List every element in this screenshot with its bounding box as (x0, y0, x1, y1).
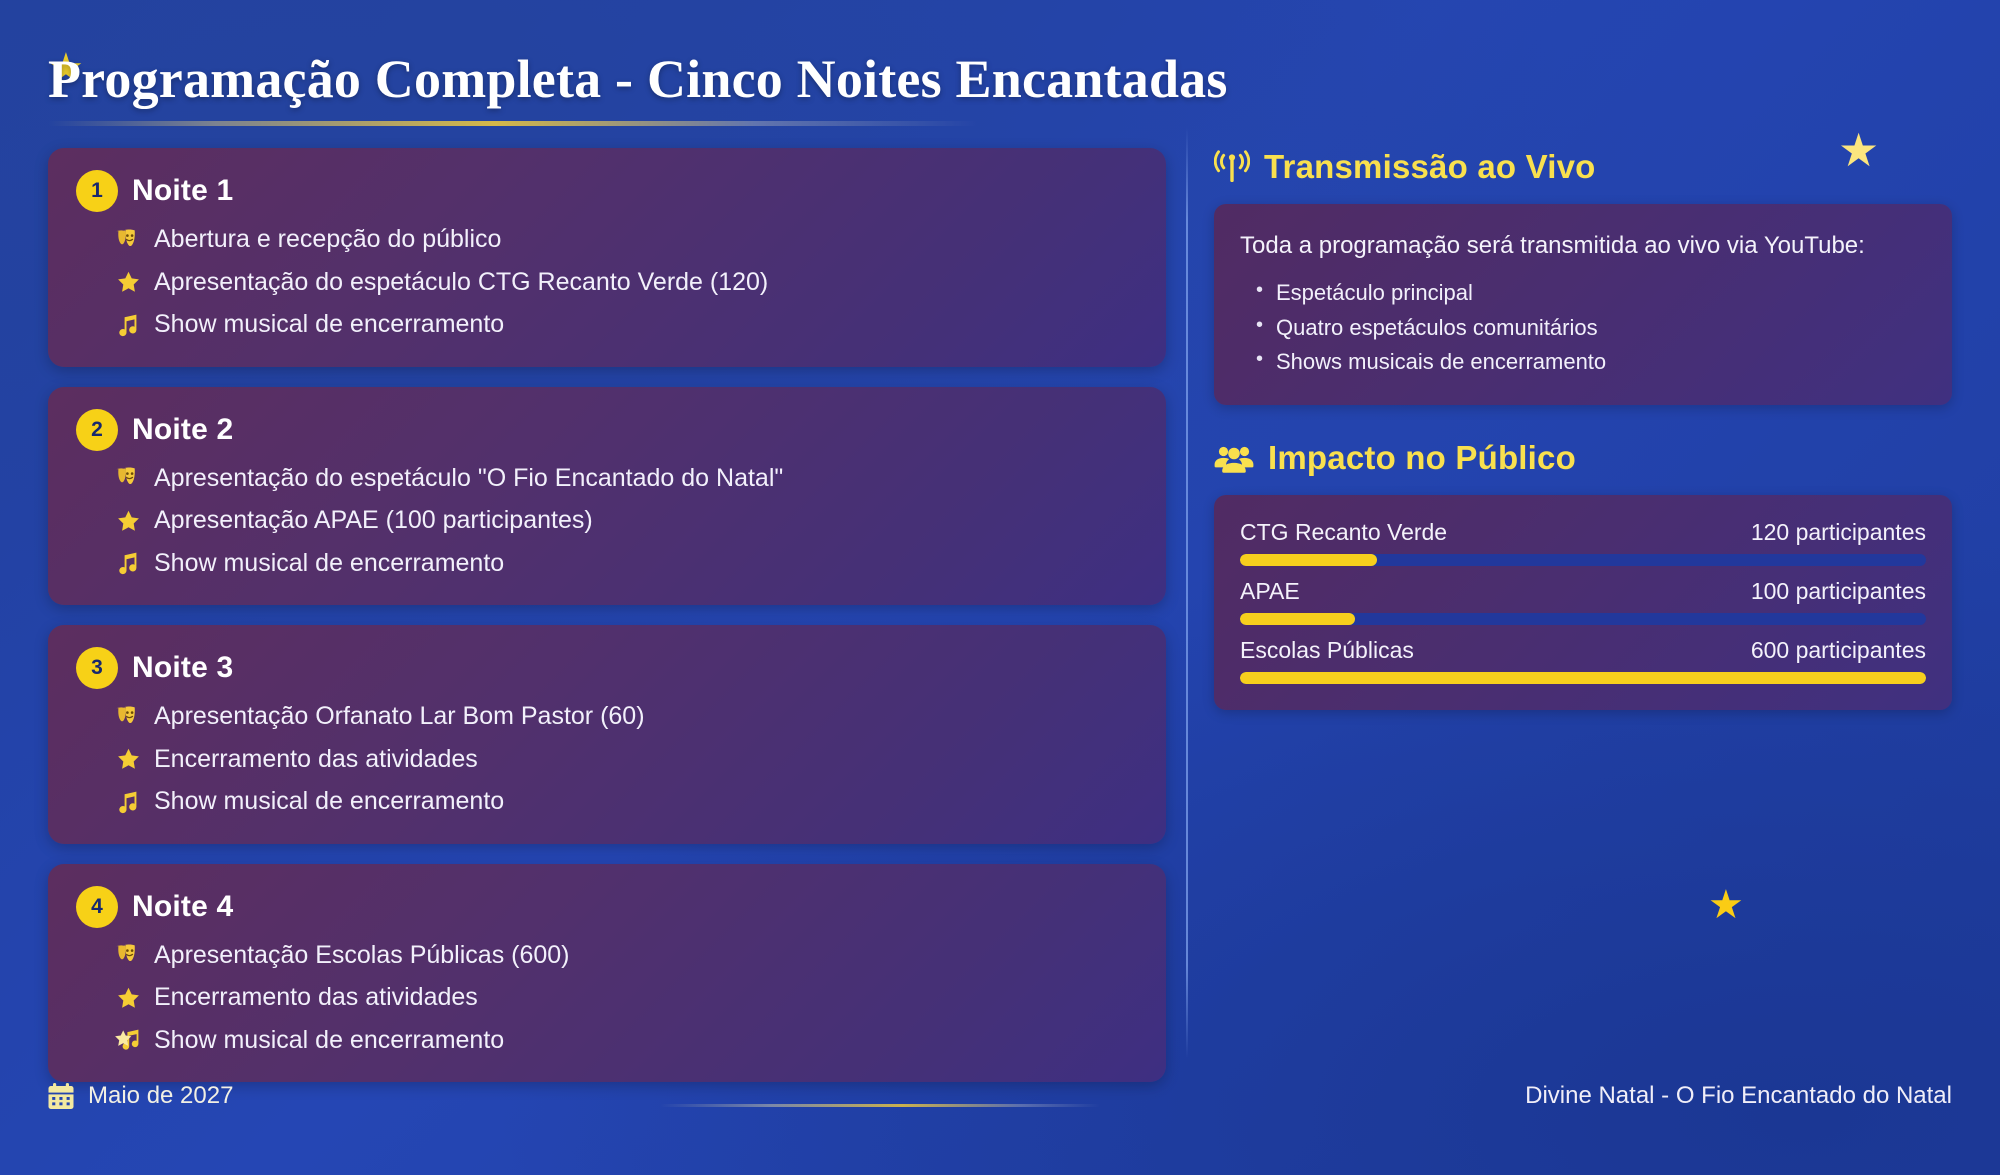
night-number-badge: 4 (76, 886, 118, 928)
impact-progress-track (1240, 672, 1926, 684)
footer-date-label: Maio de 2027 (88, 1082, 233, 1110)
star-icon (114, 507, 142, 535)
night-card-header: 2Noite 2 (76, 409, 1138, 451)
night-card-header: 4Noite 4 (76, 886, 1138, 928)
impact-row-value: 120 participantes (1751, 519, 1926, 546)
night-item: Show musical de encerramento (114, 307, 1138, 343)
night-item-label: Apresentação Orfanato Lar Bom Pastor (60… (154, 699, 645, 735)
theater-masks-icon (114, 226, 142, 254)
broadcast-lead-text: Toda a programação será transmitida ao v… (1240, 228, 1926, 264)
musical-notes-icon (114, 549, 142, 577)
musical-notes-star-icon (114, 1026, 142, 1054)
night-item: Show musical de encerramento (114, 784, 1138, 820)
broadcast-bullet-item: Shows musicais de encerramento (1246, 345, 1926, 379)
night-number-badge: 3 (76, 647, 118, 689)
night-item-list: Apresentação Escolas Públicas (600)Encer… (76, 938, 1138, 1059)
impact-progress-fill (1240, 554, 1377, 566)
night-item-label: Show musical de encerramento (154, 546, 504, 582)
star-icon (114, 268, 142, 296)
impact-row-name: Escolas Públicas (1240, 637, 1414, 664)
calendar-icon (48, 1083, 74, 1110)
night-item: Apresentação Orfanato Lar Bom Pastor (60… (114, 699, 1138, 735)
title-underline-rule (48, 121, 978, 126)
impact-row-header: APAE100 participantes (1240, 578, 1926, 605)
night-item-list: Apresentação do espetáculo "O Fio Encant… (76, 461, 1138, 582)
impact-row: APAE100 participantes (1240, 578, 1926, 625)
night-item-label: Show musical de encerramento (154, 784, 504, 820)
star-icon (114, 984, 142, 1012)
impact-rows: CTG Recanto Verde120 participantesAPAE10… (1240, 519, 1926, 684)
night-item-label: Encerramento das atividades (154, 742, 478, 778)
night-item-list: Apresentação Orfanato Lar Bom Pastor (60… (76, 699, 1138, 820)
impact-heading: Impacto no Público (1214, 439, 1952, 477)
impact-row: CTG Recanto Verde120 participantes (1240, 519, 1926, 566)
night-item-label: Apresentação do espetáculo CTG Recanto V… (154, 265, 768, 301)
night-card: 2Noite 2Apresentação do espetáculo "O Fi… (48, 387, 1166, 606)
night-title: Noite 4 (132, 890, 233, 924)
footer-date-group: Maio de 2027 (48, 1082, 233, 1110)
right-column: Transmissão ao Vivo Toda a programação s… (1214, 148, 1952, 710)
musical-notes-icon (114, 788, 142, 816)
night-title: Noite 2 (132, 413, 233, 447)
impact-panel: CTG Recanto Verde120 participantesAPAE10… (1214, 495, 1952, 710)
impact-row-value: 600 participantes (1751, 637, 1926, 664)
broadcast-tower-icon (1214, 150, 1250, 184)
page-title: Programação Completa - Cinco Noites Enca… (48, 48, 1228, 110)
night-item: Apresentação do espetáculo "O Fio Encant… (114, 461, 1138, 497)
broadcast-panel: Toda a programação será transmitida ao v… (1214, 204, 1952, 405)
night-item-label: Abertura e recepção do público (154, 222, 501, 258)
impact-row: Escolas Públicas600 participantes (1240, 637, 1926, 684)
night-item: Apresentação Escolas Públicas (600) (114, 938, 1138, 974)
theater-masks-icon (114, 941, 142, 969)
night-card: 1Noite 1Abertura e recepção do públicoAp… (48, 148, 1166, 367)
broadcast-heading-label: Transmissão ao Vivo (1264, 148, 1596, 186)
broadcast-bullet-item: Quatro espetáculos comunitários (1246, 311, 1926, 345)
nights-list: 1Noite 1Abertura e recepção do públicoAp… (48, 148, 1166, 1102)
footer-brand-label: Divine Natal - O Fio Encantado do Natal (1525, 1082, 1952, 1110)
musical-notes-icon (114, 311, 142, 339)
star-icon (114, 745, 142, 773)
impact-heading-label: Impacto no Público (1268, 439, 1576, 477)
night-item-label: Show musical de encerramento (154, 307, 504, 343)
impact-row-name: APAE (1240, 578, 1300, 605)
night-item-label: Encerramento das atividades (154, 980, 478, 1016)
footer-rule (660, 1104, 1100, 1107)
broadcast-bullet-list: Espetáculo principalQuatro espetáculos c… (1240, 276, 1926, 378)
night-card-header: 3Noite 3 (76, 647, 1138, 689)
night-item: Show musical de encerramento (114, 1023, 1138, 1059)
night-title: Noite 1 (132, 174, 233, 208)
theater-masks-icon (114, 703, 142, 731)
night-item-label: Apresentação Escolas Públicas (600) (154, 938, 570, 974)
impact-progress-track (1240, 613, 1926, 625)
broadcast-heading: Transmissão ao Vivo (1214, 148, 1952, 186)
decor-star-bottom-right-icon: ★ (1708, 885, 1744, 925)
night-item: Apresentação APAE (100 participantes) (114, 503, 1138, 539)
night-card-header: 1Noite 1 (76, 170, 1138, 212)
impact-row-header: Escolas Públicas600 participantes (1240, 637, 1926, 664)
night-item-label: Apresentação APAE (100 participantes) (154, 503, 593, 539)
theater-masks-icon (114, 464, 142, 492)
impact-row-header: CTG Recanto Verde120 participantes (1240, 519, 1926, 546)
night-item: Encerramento das atividades (114, 980, 1138, 1016)
night-item: Encerramento das atividades (114, 742, 1138, 778)
broadcast-bullet-item: Espetáculo principal (1246, 276, 1926, 310)
night-number-badge: 2 (76, 409, 118, 451)
night-item: Abertura e recepção do público (114, 222, 1138, 258)
column-divider (1186, 128, 1188, 1058)
night-number-badge: 1 (76, 170, 118, 212)
night-item-label: Show musical de encerramento (154, 1023, 504, 1059)
night-card: 3Noite 3Apresentação Orfanato Lar Bom Pa… (48, 625, 1166, 844)
impact-progress-fill (1240, 672, 1926, 684)
impact-progress-fill (1240, 613, 1355, 625)
impact-row-name: CTG Recanto Verde (1240, 519, 1447, 546)
night-item: Show musical de encerramento (114, 546, 1138, 582)
night-item-label: Apresentação do espetáculo "O Fio Encant… (154, 461, 783, 497)
night-item-list: Abertura e recepção do públicoApresentaç… (76, 222, 1138, 343)
users-group-icon (1214, 443, 1254, 473)
night-card: 4Noite 4Apresentação Escolas Públicas (6… (48, 864, 1166, 1083)
night-title: Noite 3 (132, 651, 233, 685)
impact-row-value: 100 participantes (1751, 578, 1926, 605)
impact-progress-track (1240, 554, 1926, 566)
night-item: Apresentação do espetáculo CTG Recanto V… (114, 265, 1138, 301)
